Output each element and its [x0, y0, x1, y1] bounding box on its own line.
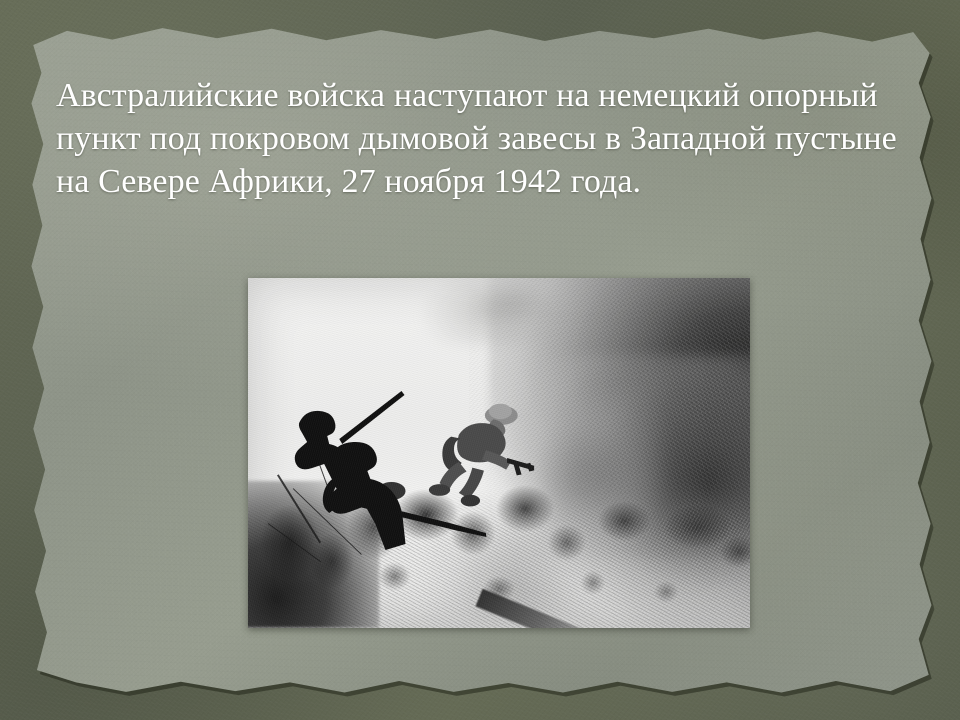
photo-soldier-third-helmet	[378, 482, 406, 500]
photo-canvas	[248, 278, 750, 628]
photo-running-soldier-body	[429, 403, 534, 506]
historical-photo	[248, 278, 750, 628]
presentation-slide: Австралийские войска наступают на немецк…	[0, 0, 960, 720]
slide-caption-text: Австралийские войска наступают на немецк…	[56, 74, 912, 203]
photo-running-soldier	[426, 394, 552, 520]
